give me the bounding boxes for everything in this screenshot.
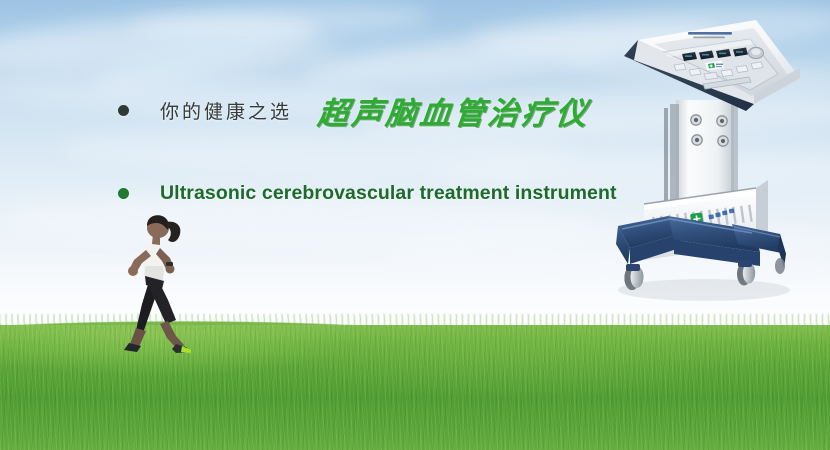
headline-block: 你的健康之选 超声脑血管治疗仪 Ultrasonic cerebrovascul… bbox=[118, 88, 638, 205]
english-product-title: Ultrasonic cerebrovascular treatment ins… bbox=[160, 182, 617, 205]
headline-row-english: Ultrasonic cerebrovascular treatment ins… bbox=[118, 182, 638, 205]
device-control-console bbox=[624, 20, 800, 111]
bullet-dot-icon bbox=[118, 105, 129, 116]
device-illustration bbox=[604, 8, 824, 308]
promo-banner: 你的健康之选 超声脑血管治疗仪 Ultrasonic cerebrovascul… bbox=[0, 0, 830, 450]
chinese-product-title: 超声脑血管治疗仪 bbox=[316, 88, 593, 133]
runner-figure bbox=[96, 204, 206, 354]
headline-row-chinese: 你的健康之选 超声脑血管治疗仪 bbox=[118, 88, 638, 133]
bullet-dot-icon bbox=[118, 188, 129, 199]
cloud-wisp bbox=[129, 0, 430, 43]
chinese-subtitle: 你的健康之选 bbox=[160, 97, 292, 124]
